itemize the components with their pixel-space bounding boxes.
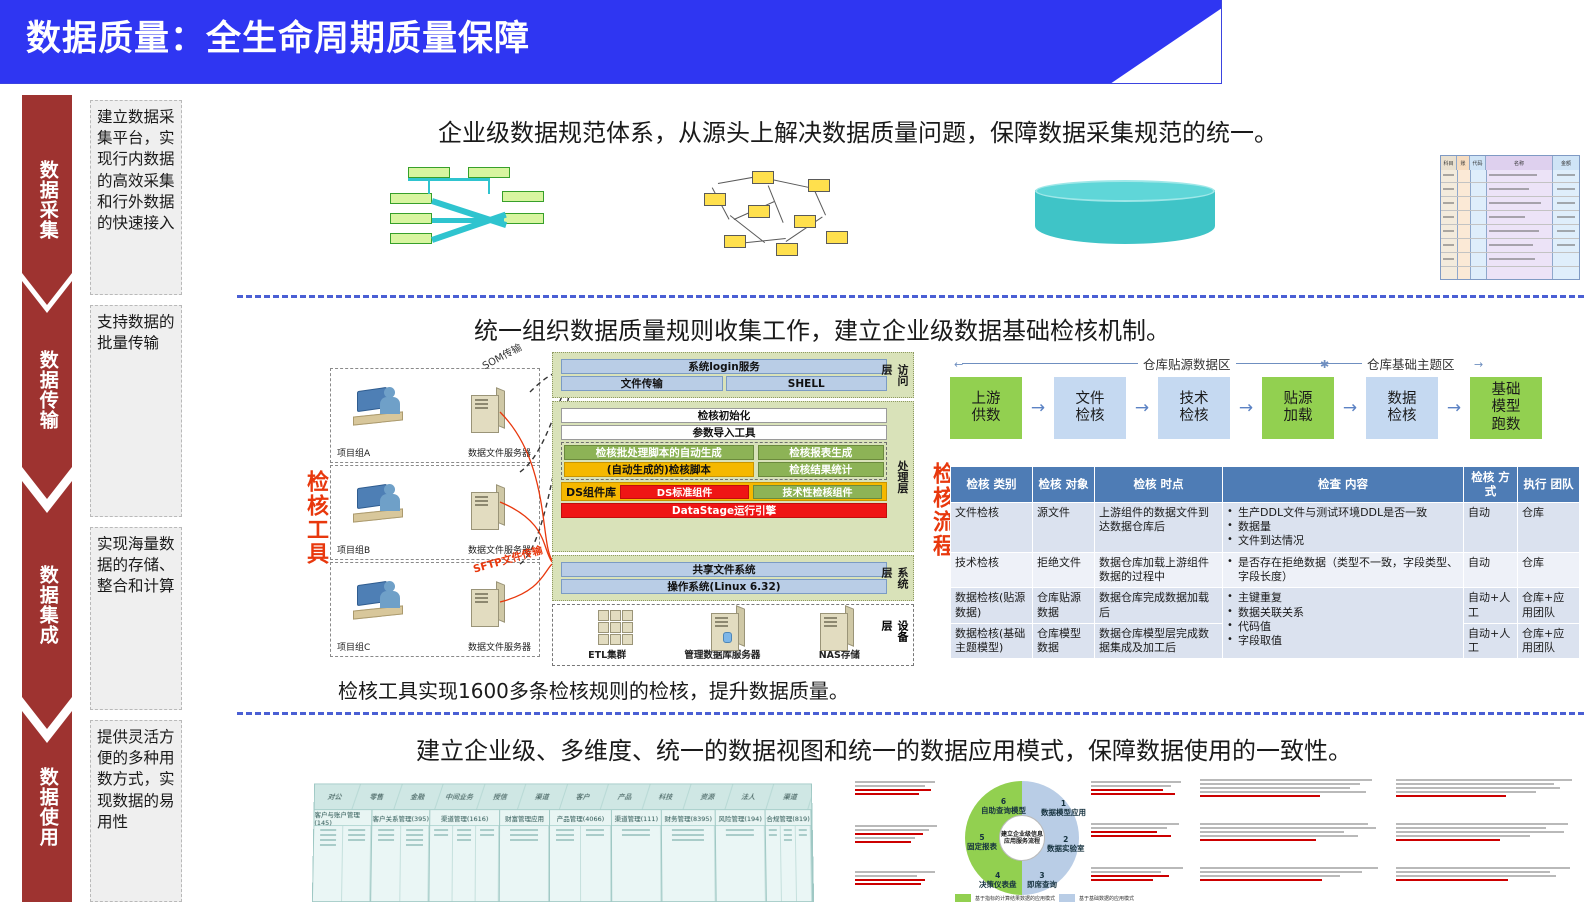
slice-number: 5 bbox=[979, 833, 984, 842]
matrix-body: 客户与账户管理(145) 客户关系管理(395) 渠道管理(1616) 财富管理… bbox=[313, 810, 813, 902]
flow-step[interactable]: 数据 检核 bbox=[1366, 377, 1438, 439]
matrix-group: 合规管理(819) bbox=[766, 810, 814, 902]
zone-label-1: 仓库基础主题区 bbox=[1362, 354, 1460, 373]
wheel-note bbox=[855, 869, 943, 887]
cell-object: 仓库模型数据 bbox=[1033, 623, 1095, 659]
team-group-label: 项目组A bbox=[337, 446, 370, 459]
stage-description-2: 实现海量数据的存储、整合和计算 bbox=[90, 527, 182, 710]
table-row: 文件检核 源文件 上游组件的数据文件到达数据仓库后 生产DDL文件与测试环境DD… bbox=[951, 502, 1580, 552]
arch-subgroup: 检核批处理脚本的自动生成 (自动生成的)检核脚本 检核报表生成 检核结果统计 bbox=[561, 442, 887, 480]
rail-stage-2[interactable]: 数据集成 bbox=[22, 481, 72, 729]
matrix-group: 财务管理(8395) bbox=[662, 810, 717, 902]
workstation-icon bbox=[353, 385, 409, 425]
matrix-group-label: 渠道管理(1616) bbox=[430, 810, 499, 826]
arrow-right-icon: → bbox=[1230, 377, 1262, 439]
db-server-icon bbox=[711, 607, 741, 645]
wheel-slice-3: 3 即席查询 bbox=[1027, 871, 1057, 889]
arch-bar: 参数导入工具 bbox=[561, 425, 887, 440]
wheel-legend: 基于指标的计算结果数据的应用模式 基于基础数据的应用模式 bbox=[955, 894, 1134, 902]
arrow-right-icon: → bbox=[1126, 377, 1158, 439]
server-icon bbox=[471, 583, 505, 627]
arrow-right-icon: → bbox=[1438, 377, 1470, 439]
cell-object: 拒绝文件 bbox=[1033, 552, 1095, 588]
matrix-group: 产品管理(4066) bbox=[550, 810, 612, 902]
arch-bar: DataStage运行引擎 bbox=[561, 503, 887, 518]
flow-steps: 上游 供数 → 文件 检核 → 技术 检核 → 贴源 加载 → 数据 检核 → … bbox=[950, 377, 1580, 439]
cell-category: 数据检核(基础主题模型) bbox=[951, 623, 1033, 659]
stage-description-0: 建立数据采集平台，实现行内数据的高效采集和行外数据的快速接入 bbox=[90, 100, 182, 295]
arch-ds-component-row: DS组件库 DS标准组件 技术性检核组件 bbox=[561, 482, 887, 501]
stage-description-3: 提供灵活方便的多种用数方式，实现数据的易用性 bbox=[90, 720, 182, 902]
slice-label: 决策仪表盘 bbox=[979, 880, 1017, 889]
arch-bar: 检核结果统计 bbox=[758, 462, 884, 477]
rail-stage-label: 数据集成 bbox=[32, 565, 61, 645]
cell-category: 文件检核 bbox=[951, 502, 1033, 552]
page-title: 数据质量：全生命周期质量保障 bbox=[26, 8, 530, 70]
matrix-group-label: 合规管理(819) bbox=[766, 810, 811, 826]
layer-access: 访问层 系统login服务 文件传输 SHELL bbox=[552, 352, 914, 398]
wheel-note bbox=[1091, 865, 1185, 883]
layer-name: 处理层 bbox=[894, 460, 910, 493]
cell-team: 仓库 bbox=[1518, 502, 1580, 552]
workstation-icon bbox=[353, 579, 409, 619]
cell-team: 仓库+应用团队 bbox=[1518, 623, 1580, 659]
server-icon bbox=[471, 486, 505, 530]
page-header: 数据质量：全生命周期质量保障 bbox=[0, 0, 1222, 84]
slice-number: 3 bbox=[1039, 871, 1044, 880]
arch-bar: 共享文件系统 bbox=[561, 562, 887, 577]
spreadsheet-thumbnail: 科目 账 代码 名称 金额 bbox=[1440, 155, 1580, 280]
section-divider-1 bbox=[237, 295, 1584, 298]
server-icon bbox=[471, 389, 505, 433]
slice-number: 4 bbox=[995, 871, 1000, 880]
matrix-group-label: 风险管理(194) bbox=[716, 810, 765, 826]
cell-object: 仓库贴源数据 bbox=[1033, 588, 1095, 624]
wheel-slice-1: 1 数据模型应用 bbox=[1041, 799, 1086, 817]
slice-label: 自助查询模型 bbox=[981, 806, 1026, 815]
rail-stage-3[interactable]: 数据使用 bbox=[22, 711, 72, 902]
sheet-col-1: 账 bbox=[1457, 156, 1470, 170]
arch-bar: 检核批处理脚本的自动生成 bbox=[564, 445, 754, 460]
sheet-col-0: 科目 bbox=[1441, 156, 1457, 170]
th-team: 执行 团队 bbox=[1518, 467, 1580, 503]
arch-bar: 检核报表生成 bbox=[758, 445, 884, 460]
cell-method: 自动+人工 bbox=[1464, 588, 1518, 624]
arch-bar: 系统login服务 bbox=[561, 359, 887, 374]
cell-team: 仓库 bbox=[1518, 552, 1580, 588]
application-matrix-graphic: 对公 零售 金融 中间业务 授信 渠道 客户 产品 科技 资源 法人 渠道 客户… bbox=[312, 783, 814, 902]
flow-zone-labels: ← 仓库贴源数据区 ✱ 仓库基础主题区 → bbox=[950, 355, 1580, 373]
text-block bbox=[1396, 865, 1576, 883]
slice-number: 2 bbox=[1063, 835, 1068, 844]
content-item: 代码值 bbox=[1227, 620, 1459, 634]
rail-stage-0[interactable]: 数据采集 bbox=[22, 95, 72, 305]
arch-bar: 技术性检核组件 bbox=[753, 485, 882, 499]
wheel-slice-2: 2 数据实验室 bbox=[1047, 835, 1085, 853]
cell-method: 自动 bbox=[1464, 502, 1518, 552]
spreadsheet-header-row: 科目 账 代码 名称 金额 bbox=[1441, 156, 1579, 170]
th-content: 检查 内容 bbox=[1223, 467, 1464, 503]
service-wheel-graphic: 建立企业级信息应用服务流程 1 数据模型应用 2 数据实验室 3 即席查询 4 … bbox=[855, 775, 1185, 902]
arrow-right-icon: → bbox=[1022, 377, 1054, 439]
team-box: 项目组A 数据文件服务器 bbox=[330, 368, 540, 463]
matrix-group: 客户关系管理(395) bbox=[371, 810, 430, 902]
cell-timing: 数据仓库加载上游组件数据的过程中 bbox=[1095, 552, 1223, 588]
team-group-label: 项目组B bbox=[337, 543, 370, 556]
cylinder-top bbox=[1035, 180, 1215, 202]
arch-bar: 操作系统(Linux 6.32) bbox=[561, 579, 887, 594]
legend-swatch-green bbox=[955, 894, 971, 902]
slice-label: 数据模型应用 bbox=[1041, 808, 1086, 817]
device-icons bbox=[553, 605, 913, 647]
matrix-top-row: 对公 零售 金融 中间业务 授信 渠道 客户 产品 科技 资源 法人 渠道 bbox=[315, 784, 812, 810]
ds-library-label: DS组件库 bbox=[566, 484, 616, 500]
cell-timing: 数据仓库模型层完成数据集成及加工后 bbox=[1095, 623, 1223, 659]
cell-object: 源文件 bbox=[1033, 502, 1095, 552]
section-2-caption: 检核工具实现1600多条检核规则的检核，提升数据质量。 bbox=[338, 675, 849, 704]
th-method: 检核 方式 bbox=[1464, 467, 1518, 503]
cell-category: 数据检核(贴源数据) bbox=[951, 588, 1033, 624]
matrix-group-label: 产品管理(4066) bbox=[550, 810, 611, 826]
layer-name: 系统层 bbox=[878, 567, 910, 589]
cell-content: 主键重复 数据关联关系 代码值 字段取值 bbox=[1223, 588, 1464, 659]
lifecycle-rail: 数据采集 数据传输 数据集成 数据使用 bbox=[22, 95, 72, 902]
sheet-col-3: 名称 bbox=[1486, 156, 1553, 170]
layer-system: 系统层 共享文件系统 操作系统(Linux 6.32) bbox=[552, 555, 914, 601]
architecture-stack: 访问层 系统login服务 文件传输 SHELL 处理层 检核初始化 参数导入工… bbox=[552, 352, 914, 666]
section-divider-2 bbox=[237, 712, 1584, 715]
arch-bar: SHELL bbox=[726, 376, 888, 391]
flow-step[interactable]: 贴源 加载 bbox=[1262, 377, 1334, 439]
content-item: 主键重复 bbox=[1227, 591, 1459, 605]
flow-step-label: 数据 检核 bbox=[1388, 391, 1417, 425]
arch-bar: DS标准组件 bbox=[620, 485, 749, 499]
wheel-note bbox=[1091, 821, 1185, 839]
cell-content: 生产DDL文件与测试环境DDL是否一致 数据量 文件到达情况 bbox=[1223, 502, 1464, 552]
layer-name: 设备层 bbox=[878, 620, 910, 650]
slice-label: 数据实验室 bbox=[1047, 844, 1085, 853]
workstation-icon bbox=[353, 482, 409, 522]
wheel-slice-4: 4 决策仪表盘 bbox=[979, 871, 1017, 889]
content-item: 是否存在拒绝数据（类型不一致，字段类型、字段长度） bbox=[1227, 556, 1459, 585]
flow-step-label: 贴源 加载 bbox=[1284, 391, 1313, 425]
cell-timing: 数据仓库完成数据加载后 bbox=[1095, 588, 1223, 624]
arch-bar: (自动生成的)检核脚本 bbox=[564, 462, 754, 477]
table-row: 技术检核 拒绝文件 数据仓库加载上游组件数据的过程中 是否存在拒绝数据（类型不一… bbox=[951, 552, 1580, 588]
matrix-top-label: 渠道 bbox=[766, 784, 814, 809]
section-2-headline: 统一组织数据质量规则收集工作，建立企业级数据基础检核机制。 bbox=[474, 311, 1170, 346]
flow-step-label: 上游 供数 bbox=[972, 391, 1001, 425]
layer-processing: 处理层 检核初始化 参数导入工具 检核批处理脚本的自动生成 (自动生成的)检核脚… bbox=[552, 401, 914, 552]
flow-step-label: 技术 检核 bbox=[1180, 391, 1209, 425]
database-cylinder-graphic bbox=[1035, 180, 1215, 252]
project-teams-group: 项目组A 数据文件服务器 项目组B 数据文件服务器 项目组C 数据文件服务器 bbox=[330, 368, 540, 658]
matrix-group: 客户与账户管理(145) bbox=[313, 810, 373, 902]
tool-vertical-label: 检核工具 bbox=[299, 470, 331, 566]
text-block bbox=[1200, 821, 1380, 843]
cell-content: 是否存在拒绝数据（类型不一致，字段类型、字段长度） bbox=[1223, 552, 1464, 588]
nas-storage-icon bbox=[820, 607, 850, 645]
rack-cluster-icon bbox=[598, 610, 633, 645]
slice-label: 即席查询 bbox=[1027, 880, 1057, 889]
th-timing: 检核 时点 bbox=[1095, 467, 1223, 503]
stage-description-1: 支持数据的批量传输 bbox=[90, 305, 182, 517]
team-box: 项目组C 数据文件服务器 bbox=[330, 562, 540, 657]
sheet-col-4: 金额 bbox=[1553, 156, 1579, 170]
device-label: ETL集群 bbox=[588, 647, 626, 661]
flow-step[interactable]: 基础 模型 跑数 bbox=[1470, 377, 1542, 439]
network-graphic bbox=[690, 165, 865, 265]
rail-stage-label: 数据采集 bbox=[32, 160, 61, 240]
th-category: 检核 类别 bbox=[951, 467, 1033, 503]
content-item: 字段取值 bbox=[1227, 634, 1459, 648]
wheel-note bbox=[855, 779, 943, 797]
rail-stage-label: 数据使用 bbox=[32, 767, 61, 847]
cell-method: 自动+人工 bbox=[1464, 623, 1518, 659]
spreadsheet-body bbox=[1441, 170, 1579, 280]
content-item: 数据量 bbox=[1227, 520, 1459, 534]
text-block bbox=[1200, 865, 1380, 883]
matrix-group: 渠道管理(1616) bbox=[429, 810, 500, 902]
flow-step[interactable]: 文件 检核 bbox=[1054, 377, 1126, 439]
right-text-panel bbox=[1200, 775, 1584, 902]
flow-step-label: 基础 模型 跑数 bbox=[1492, 382, 1521, 433]
matrix-group: 财富管理应用 bbox=[500, 810, 550, 902]
legend-label: 基于指标的计算结果数据的应用模式 bbox=[975, 895, 1055, 902]
arrow-right-icon: → bbox=[1334, 377, 1366, 439]
text-block bbox=[1396, 821, 1576, 843]
cell-team: 仓库+应用团队 bbox=[1518, 588, 1580, 624]
section-1-headline: 企业级数据规范体系，从源头上解决数据质量问题，保障数据采集规范的统一。 bbox=[438, 113, 1278, 148]
arch-bar: 文件传输 bbox=[561, 376, 723, 391]
team-box: 项目组B 数据文件服务器 bbox=[330, 465, 540, 560]
matrix-group-label: 财富管理应用 bbox=[500, 810, 549, 826]
wheel-note bbox=[855, 823, 943, 845]
wheel-center-label: 建立企业级信息应用服务流程 bbox=[999, 815, 1045, 861]
text-block bbox=[1200, 777, 1380, 799]
slice-number: 6 bbox=[1001, 797, 1006, 806]
flow-step-label: 文件 检核 bbox=[1076, 391, 1105, 425]
layer-name: 访问层 bbox=[878, 364, 910, 386]
section-3-headline: 建立企业级、多维度、统一的数据视图和统一的数据应用模式，保障数据使用的一致性。 bbox=[416, 731, 1352, 766]
cell-method: 自动 bbox=[1464, 552, 1518, 588]
team-group-label: 项目组C bbox=[337, 640, 370, 653]
hierarchy-graphic bbox=[390, 165, 560, 255]
matrix-group: 渠道管理(111) bbox=[612, 810, 663, 902]
table-header-row: 检核 类别 检核 对象 检核 时点 检查 内容 检核 方式 执行 团队 bbox=[951, 467, 1580, 503]
wheel-note bbox=[1091, 779, 1185, 797]
rail-stage-1[interactable]: 数据传输 bbox=[22, 281, 72, 499]
matrix-group-label: 客户与账户管理(145) bbox=[314, 810, 371, 826]
th-object: 检核 对象 bbox=[1033, 467, 1095, 503]
slice-number: 1 bbox=[1061, 799, 1066, 808]
checking-rules-table: 检核 类别 检核 对象 检核 时点 检查 内容 检核 方式 执行 团队 文件检核… bbox=[950, 466, 1580, 659]
legend-label: 基于基础数据的应用模式 bbox=[1079, 895, 1134, 902]
table-row: 数据检核(贴源数据) 仓库贴源数据 数据仓库完成数据加载后 主键重复 数据关联关… bbox=[951, 588, 1580, 624]
sheet-col-2: 代码 bbox=[1470, 156, 1486, 170]
legend-swatch-blue bbox=[1059, 894, 1075, 902]
rail-stage-label: 数据传输 bbox=[32, 350, 61, 430]
checking-flow: ← 仓库贴源数据区 ✱ 仓库基础主题区 → 上游 供数 → 文件 检核 → 技术… bbox=[950, 355, 1580, 439]
content-item: 文件到达情况 bbox=[1227, 534, 1459, 548]
wheel-slice-5: 5 固定报表 bbox=[967, 833, 997, 851]
matrix-group-label: 财务管理(8395) bbox=[662, 810, 715, 826]
cell-timing: 上游组件的数据文件到达数据仓库后 bbox=[1095, 502, 1223, 552]
flow-step[interactable]: 技术 检核 bbox=[1158, 377, 1230, 439]
matrix-group: 风险管理(194) bbox=[716, 810, 767, 902]
matrix-group-label: 客户关系管理(395) bbox=[372, 810, 429, 826]
matrix-top-label: 法人 bbox=[725, 784, 774, 809]
text-block bbox=[1396, 777, 1576, 799]
arch-bar: 检核初始化 bbox=[561, 408, 887, 423]
flow-step[interactable]: 上游 供数 bbox=[950, 377, 1022, 439]
slice-label: 固定报表 bbox=[967, 842, 997, 851]
cell-category: 技术检核 bbox=[951, 552, 1033, 588]
matrix-group-label: 渠道管理(111) bbox=[612, 810, 661, 826]
content-item: 数据关联关系 bbox=[1227, 606, 1459, 620]
wheel-slice-6: 6 自助查询模型 bbox=[981, 797, 1026, 815]
zone-label-0: 仓库贴源数据区 bbox=[1138, 354, 1236, 373]
layer-device: 设备层 ETL集群 管理数据库服务器 NAS存储 bbox=[552, 604, 914, 666]
content-item: 生产DDL文件与测试环境DDL是否一致 bbox=[1227, 506, 1459, 520]
